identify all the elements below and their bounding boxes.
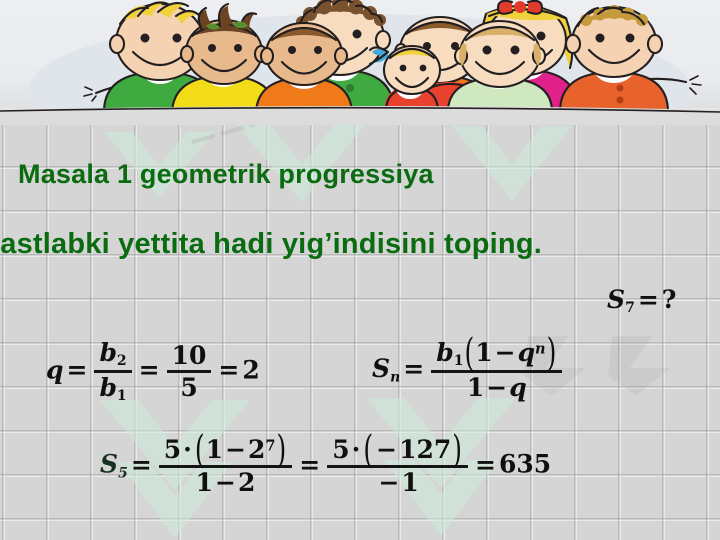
sum-computed-127: 127: [399, 435, 451, 464]
sum-general-one: 1: [475, 338, 492, 367]
sum-computed-den-two: 2: [238, 468, 255, 497]
ratio-num-subscript: 2: [117, 353, 127, 369]
sum-general-den-minus: −: [484, 373, 509, 402]
sum-computed-minus-1: −: [223, 435, 248, 464]
sum-general-fraction: b1(1−qn)1−q: [431, 340, 562, 401]
sum-computed-equals-3: =: [472, 450, 499, 479]
sum-general-equals: =: [400, 354, 427, 383]
formula-sum-computed: S5=5·(1−27)1−2=5·(−127)−1=635: [100, 437, 551, 495]
sum-computed-fraction-2: 5·(−127)−1: [327, 437, 468, 495]
sum-computed-result: 635: [499, 450, 551, 479]
sum-computed-den-minus-2: −: [376, 468, 401, 497]
ratio-num-symbol: b: [99, 338, 116, 367]
sum-computed-den-one-2: 1: [401, 468, 418, 497]
ratio-equals-2: =: [136, 355, 163, 384]
multiplication-dot: ·: [181, 435, 194, 464]
sum-computed-fraction-1: 5·(1−27)1−2: [159, 437, 293, 495]
sum-general-q-exponent: n: [535, 340, 546, 357]
slide-canvas: .ln{fill:none;stroke:#231f20;stroke-widt…: [0, 0, 720, 540]
question-s7: S7=?: [607, 285, 676, 316]
ratio-den-symbol: b: [99, 373, 116, 402]
question-symbol: S: [607, 285, 625, 314]
question-subscript: 7: [625, 300, 635, 316]
ratio-equals-3: =: [215, 355, 242, 384]
cartoon-children-illustration: .ln{fill:none;stroke:#231f20;stroke-widt…: [0, 0, 720, 125]
sum-computed-minus-2: −: [374, 435, 399, 464]
page-title: Masala 1 geometrik progressiya: [18, 159, 434, 190]
ratio-den-subscript: 1: [117, 389, 127, 405]
sum-general-b: b: [436, 338, 453, 367]
close-paren: ): [276, 430, 288, 470]
sum-computed-den-minus: −: [213, 468, 238, 497]
ratio-fraction-b2-b1: b2b1: [94, 340, 131, 404]
close-paren: ): [546, 333, 558, 373]
open-paren: (: [194, 430, 206, 470]
ratio-num-10: 10: [167, 343, 212, 369]
question-equals: =: [635, 285, 662, 314]
sum-computed-lhs-subscript: 5: [118, 465, 128, 481]
sum-general-b-subscript: 1: [454, 353, 464, 369]
ratio-equals-1: =: [63, 355, 90, 384]
ratio-result: 2: [242, 355, 259, 384]
sum-computed-num-a: 5: [164, 435, 181, 464]
multiplication-dot: ·: [350, 435, 363, 464]
ratio-den-5: 5: [175, 375, 202, 401]
sum-general-den-q: q: [509, 373, 526, 402]
question-value: ?: [662, 285, 677, 314]
sum-general-lhs-subscript: n: [390, 370, 400, 386]
open-paren: (: [362, 430, 374, 470]
problem-statement: lastlabki yettita hadi yig’indisini topi…: [0, 228, 542, 261]
sum-computed-base: 2: [248, 435, 265, 464]
formula-sum-general: Sn=b1(1−qn)1−q: [372, 340, 566, 401]
sum-computed-equals-2: =: [296, 450, 323, 479]
sum-general-q: q: [518, 338, 535, 367]
ratio-fraction-10-5: 105: [167, 343, 212, 401]
sum-general-minus: −: [493, 338, 518, 367]
formula-common-ratio: q=b2b1=105=2: [46, 340, 260, 404]
sum-computed-equals-1: =: [128, 450, 155, 479]
sum-computed-den-one: 1: [196, 468, 213, 497]
close-paren: ): [451, 430, 463, 470]
sum-computed-exponent: 7: [265, 437, 275, 454]
open-paren: (: [463, 333, 475, 373]
ratio-lhs: q: [46, 355, 63, 384]
sum-computed-one: 1: [206, 435, 223, 464]
sum-computed-lhs: S: [100, 450, 118, 479]
sum-general-lhs: S: [372, 354, 390, 383]
sum-computed-num-b: 5: [332, 435, 349, 464]
sum-general-den-one: 1: [467, 373, 484, 402]
